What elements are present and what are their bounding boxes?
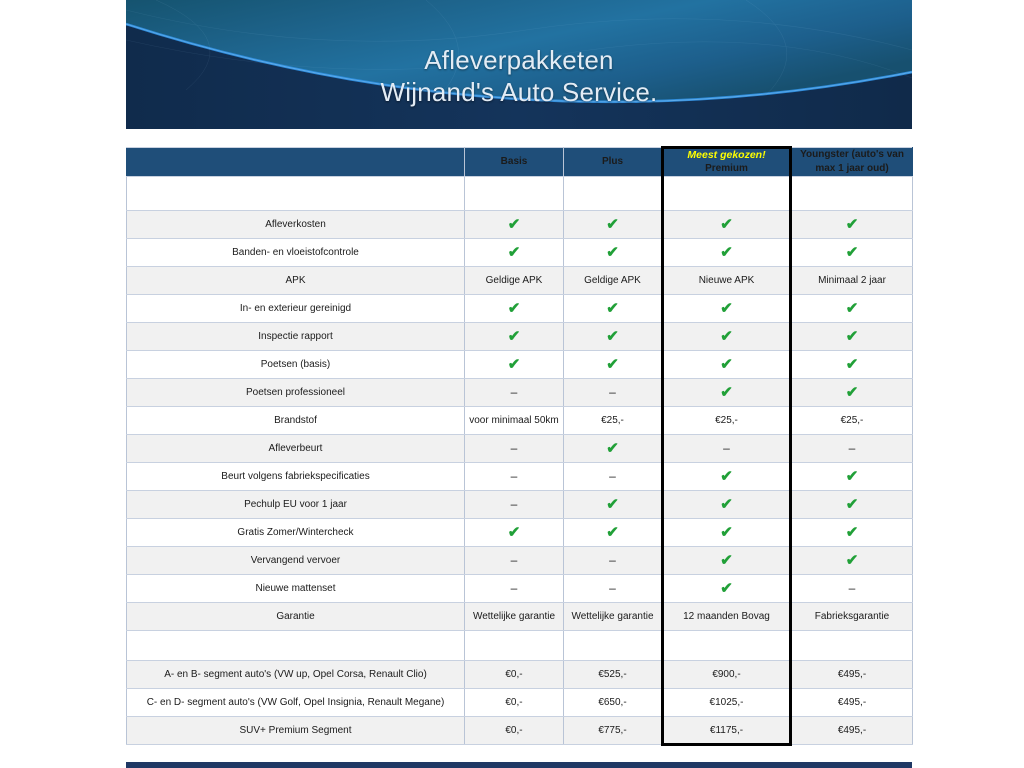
cell-value: voor minimaal 50km	[469, 415, 558, 426]
cell-plus: ✔	[564, 323, 663, 351]
check-icon: ✔	[606, 440, 619, 457]
cell-youngster: –	[791, 435, 913, 463]
cell-premium: ✔	[663, 323, 791, 351]
cell-basis: –	[465, 491, 564, 519]
cell-basis: –	[465, 547, 564, 575]
cell-premium	[663, 631, 791, 661]
cell-value: Fabrieksgarantie	[815, 611, 889, 622]
cell-basis: ✔	[465, 239, 564, 267]
cell-youngster: ✔	[791, 379, 913, 407]
cell-basis	[465, 177, 564, 211]
cell-premium: ✔	[663, 211, 791, 239]
feature-label: APK	[285, 275, 305, 286]
cell-youngster: ✔	[791, 239, 913, 267]
cell-basis: ✔	[465, 211, 564, 239]
check-icon: ✔	[720, 524, 733, 541]
feature-label: Banden- en vloeistofcontrole	[232, 247, 359, 258]
check-icon: ✔	[606, 328, 619, 345]
feature-label-cell: Inspectie rapport	[127, 323, 465, 351]
feature-label: Vervangend vervoer	[251, 555, 341, 566]
table-row: Nieuwe mattenset––✔–	[127, 575, 913, 603]
feature-label: Poetsen professioneel	[246, 387, 345, 398]
table-row: Banden- en vloeistofcontrole✔✔✔✔	[127, 239, 913, 267]
table-row: Brandstofvoor minimaal 50km€25,-€25,-€25…	[127, 407, 913, 435]
cell-plus: ✔	[564, 519, 663, 547]
cell-premium	[663, 177, 791, 211]
table-row: GarantieWettelijke garantieWettelijke ga…	[127, 603, 913, 631]
table-row	[127, 177, 913, 211]
cell-basis: €0,-	[465, 717, 564, 745]
dash-icon: –	[609, 553, 616, 567]
cell-basis: voor minimaal 50km	[465, 407, 564, 435]
check-icon: ✔	[508, 300, 521, 317]
check-icon: ✔	[720, 300, 733, 317]
cell-premium: –	[663, 435, 791, 463]
check-icon: ✔	[846, 496, 859, 513]
cell-premium: ✔	[663, 519, 791, 547]
cell-basis: Wettelijke garantie	[465, 603, 564, 631]
cell-basis	[465, 631, 564, 661]
table-row: Pechulp EU voor 1 jaar–✔✔✔	[127, 491, 913, 519]
cell-basis: –	[465, 435, 564, 463]
table-row: Afleverkosten✔✔✔✔	[127, 211, 913, 239]
feature-label: In- en exterieur gereinigd	[240, 303, 351, 314]
package-comparison-table: Basis Plus Meest gekozen! Premium Youngs…	[126, 146, 913, 746]
cell-plus: ✔	[564, 295, 663, 323]
cell-youngster: Fabrieksgarantie	[791, 603, 913, 631]
cell-youngster: €25,-	[791, 407, 913, 435]
feature-label: Garantie	[276, 611, 314, 622]
cell-youngster: ✔	[791, 463, 913, 491]
table-row: APKGeldige APKGeldige APKNieuwe APKMinim…	[127, 267, 913, 295]
feature-label-cell: Afleverkosten	[127, 211, 465, 239]
cell-plus: €650,-	[564, 689, 663, 717]
check-icon: ✔	[720, 328, 733, 345]
check-icon: ✔	[846, 328, 859, 345]
feature-label: C- en D- segment auto's (VW Golf, Opel I…	[147, 697, 445, 708]
cell-premium: €1025,-	[663, 689, 791, 717]
cell-premium: ✔	[663, 463, 791, 491]
cell-value: Geldige APK	[584, 275, 641, 286]
cell-plus: ✔	[564, 351, 663, 379]
cell-youngster: €495,-	[791, 689, 913, 717]
cell-basis: –	[465, 575, 564, 603]
column-header-premium-label: Premium	[668, 162, 785, 176]
cell-value: Wettelijke garantie	[571, 611, 653, 622]
check-icon: ✔	[606, 244, 619, 261]
cell-value: Geldige APK	[486, 275, 543, 286]
table-row: Inspectie rapport✔✔✔✔	[127, 323, 913, 351]
feature-label: Brandstof	[274, 415, 317, 426]
feature-label: Beurt volgens fabriekspecificaties	[221, 471, 369, 482]
cell-plus	[564, 177, 663, 211]
cell-value: Wettelijke garantie	[473, 611, 555, 622]
cell-youngster: ✔	[791, 351, 913, 379]
cell-value: Nieuwe APK	[699, 275, 755, 286]
dash-icon: –	[511, 553, 518, 567]
cell-value: €25,-	[601, 415, 624, 426]
check-icon: ✔	[508, 216, 521, 233]
check-icon: ✔	[846, 468, 859, 485]
cell-basis: €0,-	[465, 661, 564, 689]
dash-icon: –	[849, 441, 856, 455]
feature-label-cell: Afleverbeurt	[127, 435, 465, 463]
feature-label-cell: C- en D- segment auto's (VW Golf, Opel I…	[127, 689, 465, 717]
table-row: SUV+ Premium Segment€0,-€775,-€1175,-€49…	[127, 717, 913, 745]
feature-label-cell: SUV+ Premium Segment	[127, 717, 465, 745]
dash-icon: –	[511, 441, 518, 455]
cell-youngster: ✔	[791, 519, 913, 547]
check-icon: ✔	[846, 300, 859, 317]
table-row: Vervangend vervoer––✔✔	[127, 547, 913, 575]
cell-plus: Wettelijke garantie	[564, 603, 663, 631]
feature-label-cell	[127, 631, 465, 661]
check-icon: ✔	[846, 356, 859, 373]
check-icon: ✔	[606, 356, 619, 373]
dash-icon: –	[511, 385, 518, 399]
cell-youngster: Minimaal 2 jaar	[791, 267, 913, 295]
check-icon: ✔	[720, 384, 733, 401]
table-row: In- en exterieur gereinigd✔✔✔✔	[127, 295, 913, 323]
check-icon: ✔	[720, 468, 733, 485]
cell-premium: €25,-	[663, 407, 791, 435]
cell-plus: €525,-	[564, 661, 663, 689]
feature-label-cell: Vervangend vervoer	[127, 547, 465, 575]
dash-icon: –	[609, 581, 616, 595]
cell-youngster: ✔	[791, 547, 913, 575]
cell-plus: –	[564, 547, 663, 575]
check-icon: ✔	[508, 244, 521, 261]
cell-value: €900,-	[712, 669, 740, 680]
dash-icon: –	[609, 469, 616, 483]
table-row: Gratis Zomer/Wintercheck✔✔✔✔	[127, 519, 913, 547]
feature-label-cell: Pechulp EU voor 1 jaar	[127, 491, 465, 519]
check-icon: ✔	[720, 496, 733, 513]
feature-label-cell: Banden- en vloeistofcontrole	[127, 239, 465, 267]
cell-youngster: ✔	[791, 491, 913, 519]
cell-value: €0,-	[505, 697, 522, 708]
cell-premium: ✔	[663, 491, 791, 519]
check-icon: ✔	[846, 552, 859, 569]
table-header-row: Basis Plus Meest gekozen! Premium Youngs…	[127, 148, 913, 177]
cell-basis: ✔	[465, 323, 564, 351]
check-icon: ✔	[720, 244, 733, 261]
feature-label-cell: Brandstof	[127, 407, 465, 435]
most-chosen-badge: Meest gekozen!	[668, 149, 785, 162]
dash-icon: –	[849, 581, 856, 595]
check-icon: ✔	[846, 244, 859, 261]
banner-title-line1: Afleverpakketen	[424, 45, 613, 75]
cell-basis: €0,-	[465, 689, 564, 717]
check-icon: ✔	[720, 216, 733, 233]
dash-icon: –	[511, 497, 518, 511]
cell-premium: ✔	[663, 379, 791, 407]
feature-label-cell: Poetsen (basis)	[127, 351, 465, 379]
cell-value: Minimaal 2 jaar	[818, 275, 886, 286]
table-row: C- en D- segment auto's (VW Golf, Opel I…	[127, 689, 913, 717]
cell-plus: ✔	[564, 491, 663, 519]
cell-basis: ✔	[465, 519, 564, 547]
feature-label: Poetsen (basis)	[261, 359, 330, 370]
feature-label-cell	[127, 177, 465, 211]
cell-premium: ✔	[663, 351, 791, 379]
dash-icon: –	[609, 385, 616, 399]
cell-premium: ✔	[663, 295, 791, 323]
cell-value: €525,-	[598, 669, 626, 680]
cell-value: €0,-	[505, 669, 522, 680]
check-icon: ✔	[846, 216, 859, 233]
cell-plus: €25,-	[564, 407, 663, 435]
feature-label-cell: A- en B- segment auto's (VW up, Opel Cor…	[127, 661, 465, 689]
cell-value: 12 maanden Bovag	[683, 611, 770, 622]
cell-value: €495,-	[838, 725, 866, 736]
check-icon: ✔	[846, 384, 859, 401]
cell-premium: ✔	[663, 547, 791, 575]
cell-plus: –	[564, 575, 663, 603]
dash-icon: –	[511, 469, 518, 483]
cell-value: €0,-	[505, 725, 522, 736]
cell-premium: ✔	[663, 575, 791, 603]
feature-label: Inspectie rapport	[258, 331, 333, 342]
feature-label: Pechulp EU voor 1 jaar	[244, 499, 347, 510]
feature-label-cell: Poetsen professioneel	[127, 379, 465, 407]
check-icon: ✔	[508, 356, 521, 373]
cell-basis: –	[465, 463, 564, 491]
cell-premium: Nieuwe APK	[663, 267, 791, 295]
cell-basis: –	[465, 379, 564, 407]
feature-label: Gratis Zomer/Wintercheck	[237, 527, 353, 538]
cell-value: €25,-	[715, 415, 738, 426]
cell-youngster: ✔	[791, 323, 913, 351]
feature-label-cell: In- en exterieur gereinigd	[127, 295, 465, 323]
table-row: Poetsen professioneel––✔✔	[127, 379, 913, 407]
table-header: Basis Plus Meest gekozen! Premium Youngs…	[127, 148, 913, 177]
feature-label: Nieuwe mattenset	[255, 583, 335, 594]
cell-basis: ✔	[465, 295, 564, 323]
table-row: Beurt volgens fabriekspecificaties––✔✔	[127, 463, 913, 491]
cell-premium: €900,-	[663, 661, 791, 689]
column-header-basis[interactable]: Basis	[465, 148, 564, 177]
column-header-plus[interactable]: Plus	[564, 148, 663, 177]
footer-bar	[126, 762, 912, 768]
feature-label-cell: Nieuwe mattenset	[127, 575, 465, 603]
table-row: Afleverbeurt–✔––	[127, 435, 913, 463]
feature-label-cell: APK	[127, 267, 465, 295]
cell-plus	[564, 631, 663, 661]
cell-value: €1025,-	[710, 697, 744, 708]
cell-plus: ✔	[564, 239, 663, 267]
cell-youngster: ✔	[791, 211, 913, 239]
cell-value: €25,-	[841, 415, 864, 426]
feature-label-cell: Beurt volgens fabriekspecificaties	[127, 463, 465, 491]
column-header-feature	[127, 148, 465, 177]
cell-youngster: ✔	[791, 295, 913, 323]
cell-premium: €1175,-	[663, 717, 791, 745]
cell-youngster: €495,-	[791, 661, 913, 689]
check-icon: ✔	[606, 216, 619, 233]
column-header-basis-label: Basis	[469, 155, 559, 169]
column-header-youngster-label: Youngster (auto's van max 1 jaar oud)	[796, 148, 908, 176]
feature-label: Afleverkosten	[265, 219, 326, 230]
cell-youngster	[791, 631, 913, 661]
dash-icon: –	[511, 581, 518, 595]
feature-label-cell: Garantie	[127, 603, 465, 631]
dash-icon: –	[723, 441, 730, 455]
check-icon: ✔	[606, 496, 619, 513]
check-icon: ✔	[720, 580, 733, 597]
cell-premium: ✔	[663, 239, 791, 267]
cell-value: €495,-	[838, 697, 866, 708]
cell-value: €1175,-	[710, 725, 743, 736]
check-icon: ✔	[720, 356, 733, 373]
feature-label: SUV+ Premium Segment	[240, 725, 352, 736]
header-banner: Afleverpakketen Wijnand's Auto Service.	[126, 0, 912, 129]
cell-value: €650,-	[598, 697, 626, 708]
banner-title-line2: Wijnand's Auto Service.	[126, 76, 912, 108]
column-header-plus-label: Plus	[568, 155, 657, 169]
column-header-premium[interactable]: Meest gekozen! Premium	[663, 148, 791, 177]
feature-label: Afleverbeurt	[269, 443, 323, 454]
cell-plus: €775,-	[564, 717, 663, 745]
package-comparison-table-container: Basis Plus Meest gekozen! Premium Youngs…	[126, 146, 912, 746]
cell-plus: Geldige APK	[564, 267, 663, 295]
cell-value: €495,-	[838, 669, 866, 680]
check-icon: ✔	[606, 300, 619, 317]
check-icon: ✔	[846, 524, 859, 541]
cell-premium: 12 maanden Bovag	[663, 603, 791, 631]
page-title: Afleverpakketen Wijnand's Auto Service.	[126, 44, 912, 108]
column-header-youngster[interactable]: Youngster (auto's van max 1 jaar oud)	[791, 148, 913, 177]
cell-basis: Geldige APK	[465, 267, 564, 295]
check-icon: ✔	[720, 552, 733, 569]
table-row: Poetsen (basis)✔✔✔✔	[127, 351, 913, 379]
table-body: Afleverkosten✔✔✔✔Banden- en vloeistofcon…	[127, 177, 913, 745]
cell-plus: ✔	[564, 211, 663, 239]
cell-youngster: –	[791, 575, 913, 603]
feature-label: A- en B- segment auto's (VW up, Opel Cor…	[164, 669, 427, 680]
cell-basis: ✔	[465, 351, 564, 379]
cell-plus: ✔	[564, 435, 663, 463]
check-icon: ✔	[508, 524, 521, 541]
check-icon: ✔	[606, 524, 619, 541]
feature-label-cell: Gratis Zomer/Wintercheck	[127, 519, 465, 547]
table-row	[127, 631, 913, 661]
cell-youngster: €495,-	[791, 717, 913, 745]
table-row: A- en B- segment auto's (VW up, Opel Cor…	[127, 661, 913, 689]
cell-plus: –	[564, 379, 663, 407]
cell-value: €775,-	[598, 725, 626, 736]
cell-plus: –	[564, 463, 663, 491]
check-icon: ✔	[508, 328, 521, 345]
cell-youngster	[791, 177, 913, 211]
